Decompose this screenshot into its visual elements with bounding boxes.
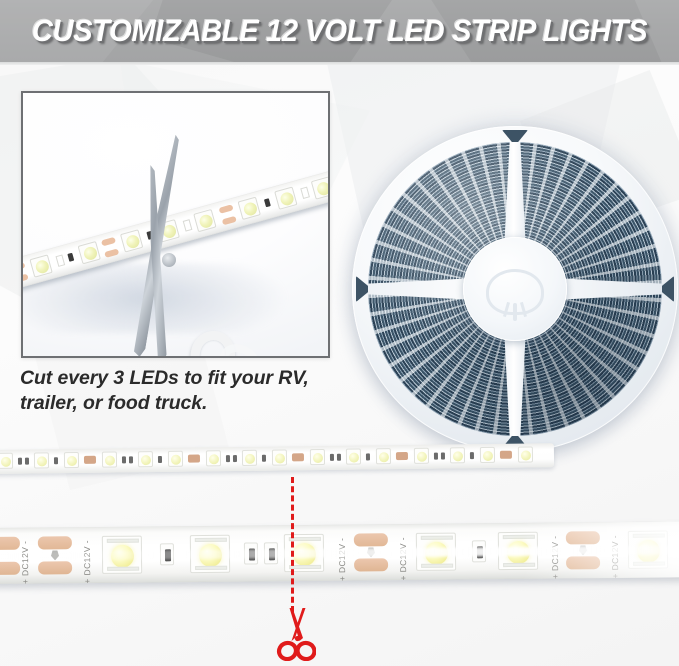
foreground-led-strip: + DC12V - + DC12V - + DC12V - + DC12V - … — [0, 521, 679, 584]
reel-outer-flange — [352, 126, 678, 452]
caption-line-1: Cut every 3 LEDs to fit your RV, — [20, 367, 309, 389]
inset-photo-frame — [21, 91, 330, 358]
strip-fade-overlay — [522, 521, 679, 579]
voltage-label: + DC12V - — [82, 540, 92, 584]
page-title: CUSTOMIZABLE 12 VOLT LED STRIP LIGHTS — [20, 0, 658, 62]
reel-notch — [502, 130, 528, 142]
caption-text: Cut every 3 LEDs to fit your RV, trailer… — [20, 366, 360, 416]
voltage-label: + DC12V - — [20, 541, 30, 584]
cut-line-dashed — [291, 477, 294, 612]
reel-notch — [662, 276, 674, 302]
scissors-icon — [276, 607, 316, 661]
voltage-label: + DC12V - — [337, 538, 347, 582]
header-underline — [0, 62, 679, 65]
voltage-label: + DC12V - — [398, 537, 408, 581]
infographic-canvas: CUSTOMIZABLE 12 VOLT LED STRIP LIGHTS — [0, 0, 679, 666]
caption-line-2: trailer, or food truck. — [20, 391, 360, 416]
led-reel — [352, 126, 678, 452]
reel-hub — [463, 237, 567, 341]
scissors-pivot — [162, 253, 176, 267]
reel-notch — [356, 276, 368, 302]
reel-hub-stem — [513, 303, 517, 321]
